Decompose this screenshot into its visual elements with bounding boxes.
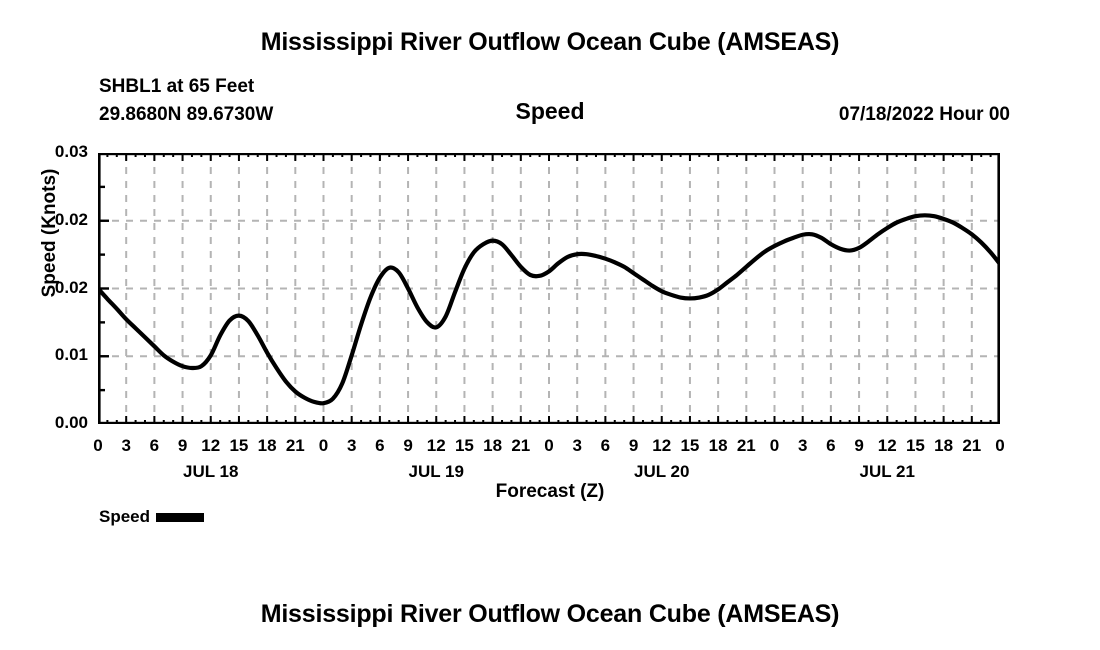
x-tick-label: 18 [703, 436, 733, 456]
x-tick-label: 6 [816, 436, 846, 456]
axis-line-left [98, 153, 101, 424]
x-tick-label: 12 [872, 436, 902, 456]
axis-line-top [98, 153, 1000, 155]
x-tick-label: 3 [111, 436, 141, 456]
chart-legend: Speed [99, 507, 204, 527]
x-day-label: JUL 18 [151, 462, 271, 482]
x-tick-label: 18 [478, 436, 508, 456]
y-tick-label: 0.03 [32, 142, 88, 162]
y-tick-label: 0.00 [32, 413, 88, 433]
x-tick-label: 21 [506, 436, 536, 456]
x-tick-label: 0 [534, 436, 564, 456]
axis-line-bottom [98, 422, 1000, 424]
x-tick-label: 0 [83, 436, 113, 456]
legend-label: Speed [99, 507, 150, 527]
speed-line-chart [98, 153, 1000, 424]
x-tick-label: 9 [844, 436, 874, 456]
model-run-time: 07/18/2022 Hour 00 [839, 104, 1010, 126]
x-tick-label: 21 [280, 436, 310, 456]
page-title: Mississippi River Outflow Ocean Cube (AM… [0, 28, 1100, 57]
x-tick-label: 9 [168, 436, 198, 456]
x-axis-title: Forecast (Z) [0, 481, 1100, 503]
x-day-label: JUL 19 [376, 462, 496, 482]
x-tick-label: 6 [365, 436, 395, 456]
x-tick-label: 0 [985, 436, 1015, 456]
x-tick-label: 15 [224, 436, 254, 456]
x-tick-label: 15 [900, 436, 930, 456]
y-tick-label: 0.02 [32, 210, 88, 230]
y-tick-label: 0.02 [32, 278, 88, 298]
x-tick-label: 3 [788, 436, 818, 456]
footer-title: Mississippi River Outflow Ocean Cube (AM… [0, 600, 1100, 629]
x-tick-label: 9 [619, 436, 649, 456]
chart-plot-area [98, 153, 1000, 424]
x-tick-label: 12 [421, 436, 451, 456]
x-tick-label: 3 [562, 436, 592, 456]
x-tick-label: 21 [957, 436, 987, 456]
x-tick-label: 3 [337, 436, 367, 456]
x-tick-label: 12 [196, 436, 226, 456]
x-tick-label: 15 [449, 436, 479, 456]
x-tick-label: 18 [929, 436, 959, 456]
x-tick-label: 6 [590, 436, 620, 456]
x-tick-label: 0 [309, 436, 339, 456]
x-day-label: JUL 21 [827, 462, 947, 482]
x-day-label: JUL 20 [602, 462, 722, 482]
x-tick-label: 18 [252, 436, 282, 456]
y-tick-label: 0.01 [32, 345, 88, 365]
axis-line-right [997, 153, 1000, 424]
x-tick-label: 0 [760, 436, 790, 456]
x-tick-label: 12 [647, 436, 677, 456]
station-label: SHBL1 at 65 Feet [99, 76, 254, 98]
x-tick-label: 21 [731, 436, 761, 456]
legend-swatch-speed [156, 513, 204, 522]
x-tick-label: 6 [139, 436, 169, 456]
x-tick-label: 9 [393, 436, 423, 456]
x-tick-label: 15 [675, 436, 705, 456]
